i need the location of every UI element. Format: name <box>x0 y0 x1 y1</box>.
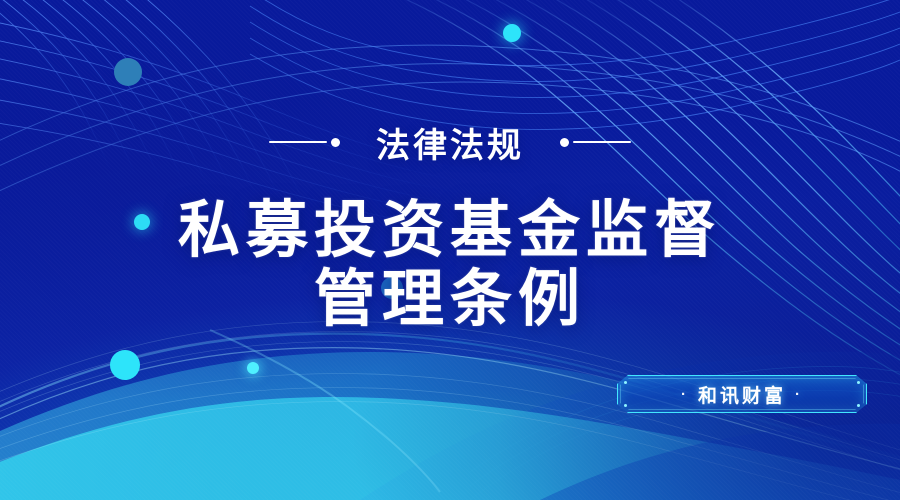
brand-badge[interactable]: · 和讯财富 · <box>617 375 867 413</box>
eyebrow-row: 法律法规 <box>0 112 900 172</box>
page-title-line-2: 管理条例 <box>0 265 900 334</box>
poster-canvas: 法律法规 私募投资基金监督 管理条例 · 和讯财富 · <box>0 0 900 500</box>
dot-top-right-cyan-icon <box>503 24 521 42</box>
eyebrow-rule-right-bar <box>573 141 631 143</box>
page-title: 私募投资基金监督 管理条例 <box>0 196 900 335</box>
brand-badge-label: 和讯财富 <box>698 381 786 408</box>
category-label: 法律法规 <box>376 118 524 167</box>
eyebrow-rule-left-dot-icon <box>331 138 340 147</box>
eyebrow-rule-right <box>560 136 631 148</box>
eyebrow-rule-left-bar <box>269 141 327 143</box>
dot-top-left-steel-icon <box>114 58 142 86</box>
brand-badge-separator-right-icon: · <box>795 386 803 403</box>
eyebrow-rule-right-dot-icon <box>560 138 569 147</box>
dot-bottom-small-cyan-icon <box>247 362 259 374</box>
page-title-line-1: 私募投资基金监督 <box>0 196 900 265</box>
brand-badge-label-row: · 和讯财富 · <box>617 375 867 413</box>
brand-badge-separator-left-icon: · <box>681 386 689 403</box>
dot-bottom-large-cyan-icon <box>110 350 140 380</box>
eyebrow-rule-left <box>269 136 340 148</box>
